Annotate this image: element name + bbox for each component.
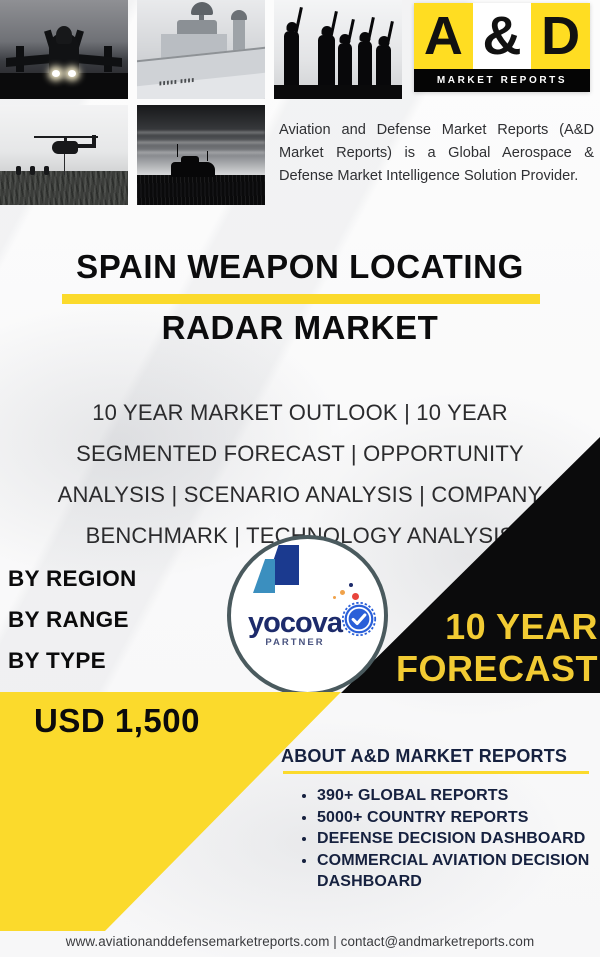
page-title-line2: RADAR MARKET — [0, 309, 600, 347]
report-scope-subtitle: 10 YEAR MARKET OUTLOOK | 10 YEAR SEGMENT… — [24, 392, 576, 556]
segmentation-item-range: BY RANGE — [8, 599, 137, 640]
segmentation-item-region: BY REGION — [8, 558, 137, 599]
footer-contact[interactable]: www.aviationanddefensemarketreports.com … — [0, 934, 600, 949]
about-bullet-list: 390+ GLOBAL REPORTS 5000+ COUNTRY REPORT… — [295, 785, 600, 893]
helicopter-photo — [0, 105, 128, 205]
fighter-jet-photo — [0, 0, 128, 99]
list-item: 5000+ COUNTRY REPORTS — [317, 807, 600, 829]
about-underline-rule — [283, 771, 589, 774]
price-label: USD 1,500 — [34, 702, 200, 740]
list-item: COMMERCIAL AVIATION DECISION DASHBOARD — [317, 850, 600, 893]
logo-letter-a: A — [414, 3, 473, 69]
ad-market-reports-logo: A & D MARKET REPORTS — [414, 3, 590, 92]
company-intro-text: Aviation and Defense Market Reports (A&D… — [279, 119, 594, 188]
segmentation-list: BY REGION BY RANGE BY TYPE — [8, 558, 137, 681]
page-title-line1: SPAIN WEAPON LOCATING — [0, 248, 600, 286]
title-underline-rule — [62, 294, 540, 304]
segmentation-item-type: BY TYPE — [8, 640, 137, 681]
about-heading: ABOUT A&D MARKET REPORTS — [281, 746, 593, 767]
logo-tagline: MARKET REPORTS — [414, 69, 590, 92]
naval-ship-photo: ▮▮▮▮▮ ▮▮▮▮ — [137, 0, 265, 99]
badge-confetti-dots — [331, 583, 361, 601]
ten-year-forecast-callout: 10 YEAR FORECAST — [300, 606, 598, 690]
logo-letter-d: D — [531, 3, 590, 69]
forecast-line1: 10 YEAR — [300, 606, 598, 648]
list-item: 390+ GLOBAL REPORTS — [317, 785, 600, 807]
report-cover-poster: ▮▮▮▮▮ ▮▮▮▮ A & D MARKET REP — [0, 0, 600, 957]
badge-shape-teal — [253, 559, 275, 593]
soldiers-silhouette-photo — [274, 0, 402, 99]
armored-vehicle-photo — [137, 105, 265, 205]
forecast-line2: FORECAST — [300, 648, 598, 690]
list-item: DEFENSE DECISION DASHBOARD — [317, 828, 600, 850]
logo-letter-ampersand: & — [473, 3, 532, 69]
